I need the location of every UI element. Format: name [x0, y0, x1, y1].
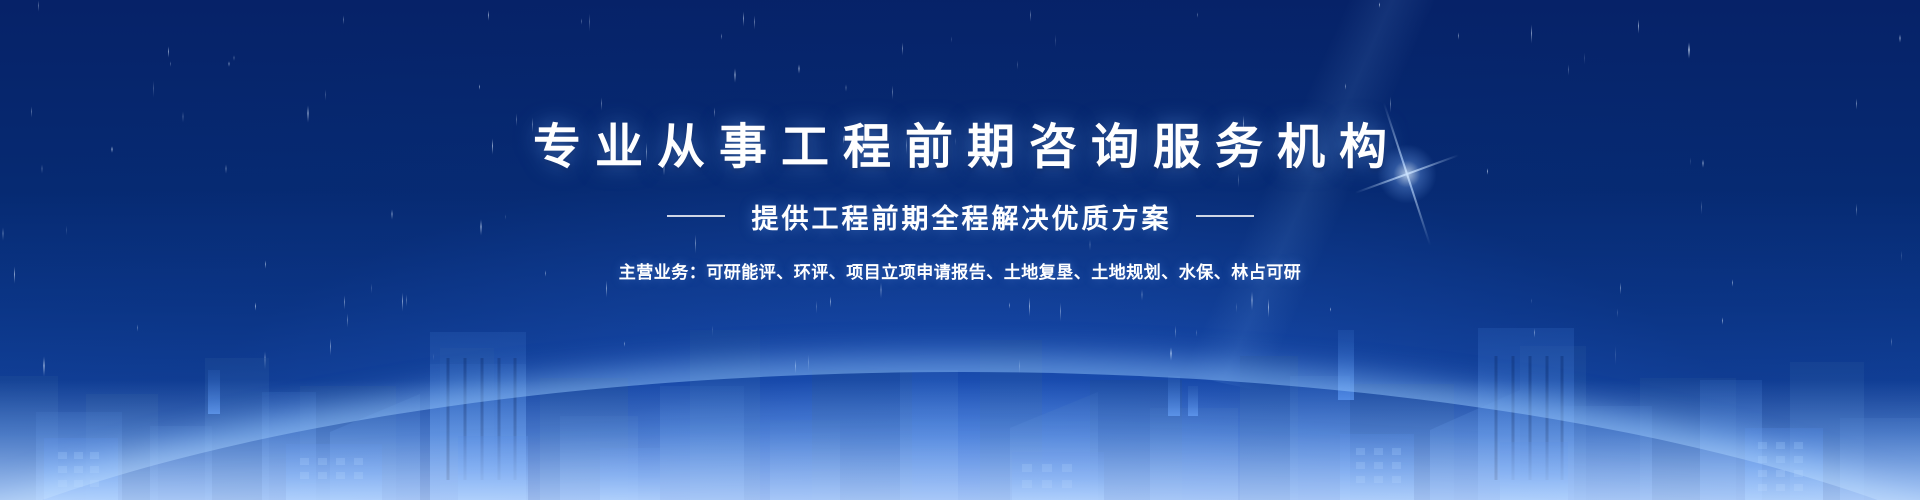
banner-subtitle-row: 提供工程前期全程解决优质方案 [0, 197, 1920, 236]
banner-content: 专业从事工程前期咨询服务机构 提供工程前期全程解决优质方案 主营业务：可研能评、… [0, 0, 1920, 283]
hero-banner: 专业从事工程前期咨询服务机构 提供工程前期全程解决优质方案 主营业务：可研能评、… [0, 0, 1920, 500]
banner-subheadline: 提供工程前期全程解决优质方案 [749, 197, 1172, 236]
rule-right-icon [1196, 215, 1254, 217]
banner-services-line: 主营业务：可研能评、环评、项目立项申请报告、土地复垦、土地规划、水保、林占可研 [0, 258, 1920, 283]
banner-headline: 专业从事工程前期咨询服务机构 [0, 120, 1920, 177]
rule-left-icon [667, 215, 725, 217]
